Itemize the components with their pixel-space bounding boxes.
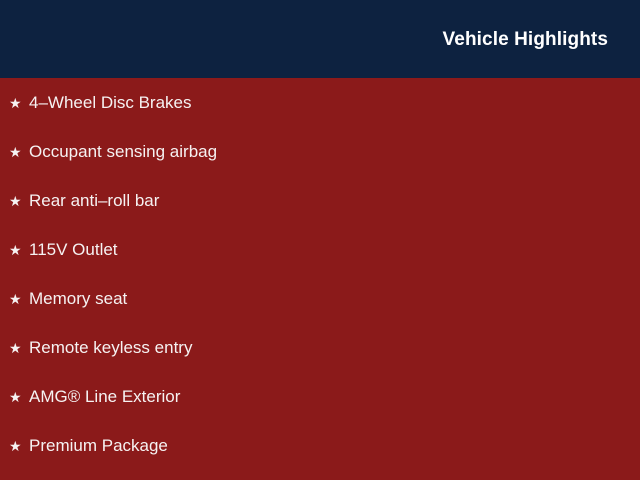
page-title: Vehicle Highlights — [443, 30, 608, 49]
list-item: ★ Rear anti–roll bar — [0, 176, 640, 225]
list-item: ★ 115V Outlet — [0, 225, 640, 274]
list-item: ★ 4–Wheel Disc Brakes — [0, 78, 640, 127]
vehicle-highlights-panel: Vehicle Highlights ★ 4–Wheel Disc Brakes… — [0, 0, 640, 480]
panel-header: Vehicle Highlights — [0, 0, 640, 78]
list-item: ★ Premium Package — [0, 421, 640, 470]
highlight-label: AMG® Line Exterior — [29, 387, 180, 407]
star-icon: ★ — [9, 292, 29, 306]
highlight-label: Premium Package — [29, 436, 168, 456]
list-item: ★ Memory seat — [0, 274, 640, 323]
star-icon: ★ — [9, 243, 29, 257]
list-item: ★ Occupant sensing airbag — [0, 127, 640, 176]
star-icon: ★ — [9, 390, 29, 404]
star-icon: ★ — [9, 194, 29, 208]
highlight-label: Remote keyless entry — [29, 338, 192, 358]
list-item: ★ Remote keyless entry — [0, 323, 640, 372]
star-icon: ★ — [9, 145, 29, 159]
list-item: ★ AMG® Line Exterior — [0, 372, 640, 421]
star-icon: ★ — [9, 96, 29, 110]
highlight-label: Rear anti–roll bar — [29, 191, 159, 211]
star-icon: ★ — [9, 439, 29, 453]
vehicle-highlights-list: ★ 4–Wheel Disc Brakes ★ Occupant sensing… — [0, 78, 640, 480]
highlight-label: Memory seat — [29, 289, 127, 309]
highlight-label: 4–Wheel Disc Brakes — [29, 93, 192, 113]
highlight-label: Occupant sensing airbag — [29, 142, 217, 162]
star-icon: ★ — [9, 341, 29, 355]
highlight-label: 115V Outlet — [29, 240, 118, 260]
